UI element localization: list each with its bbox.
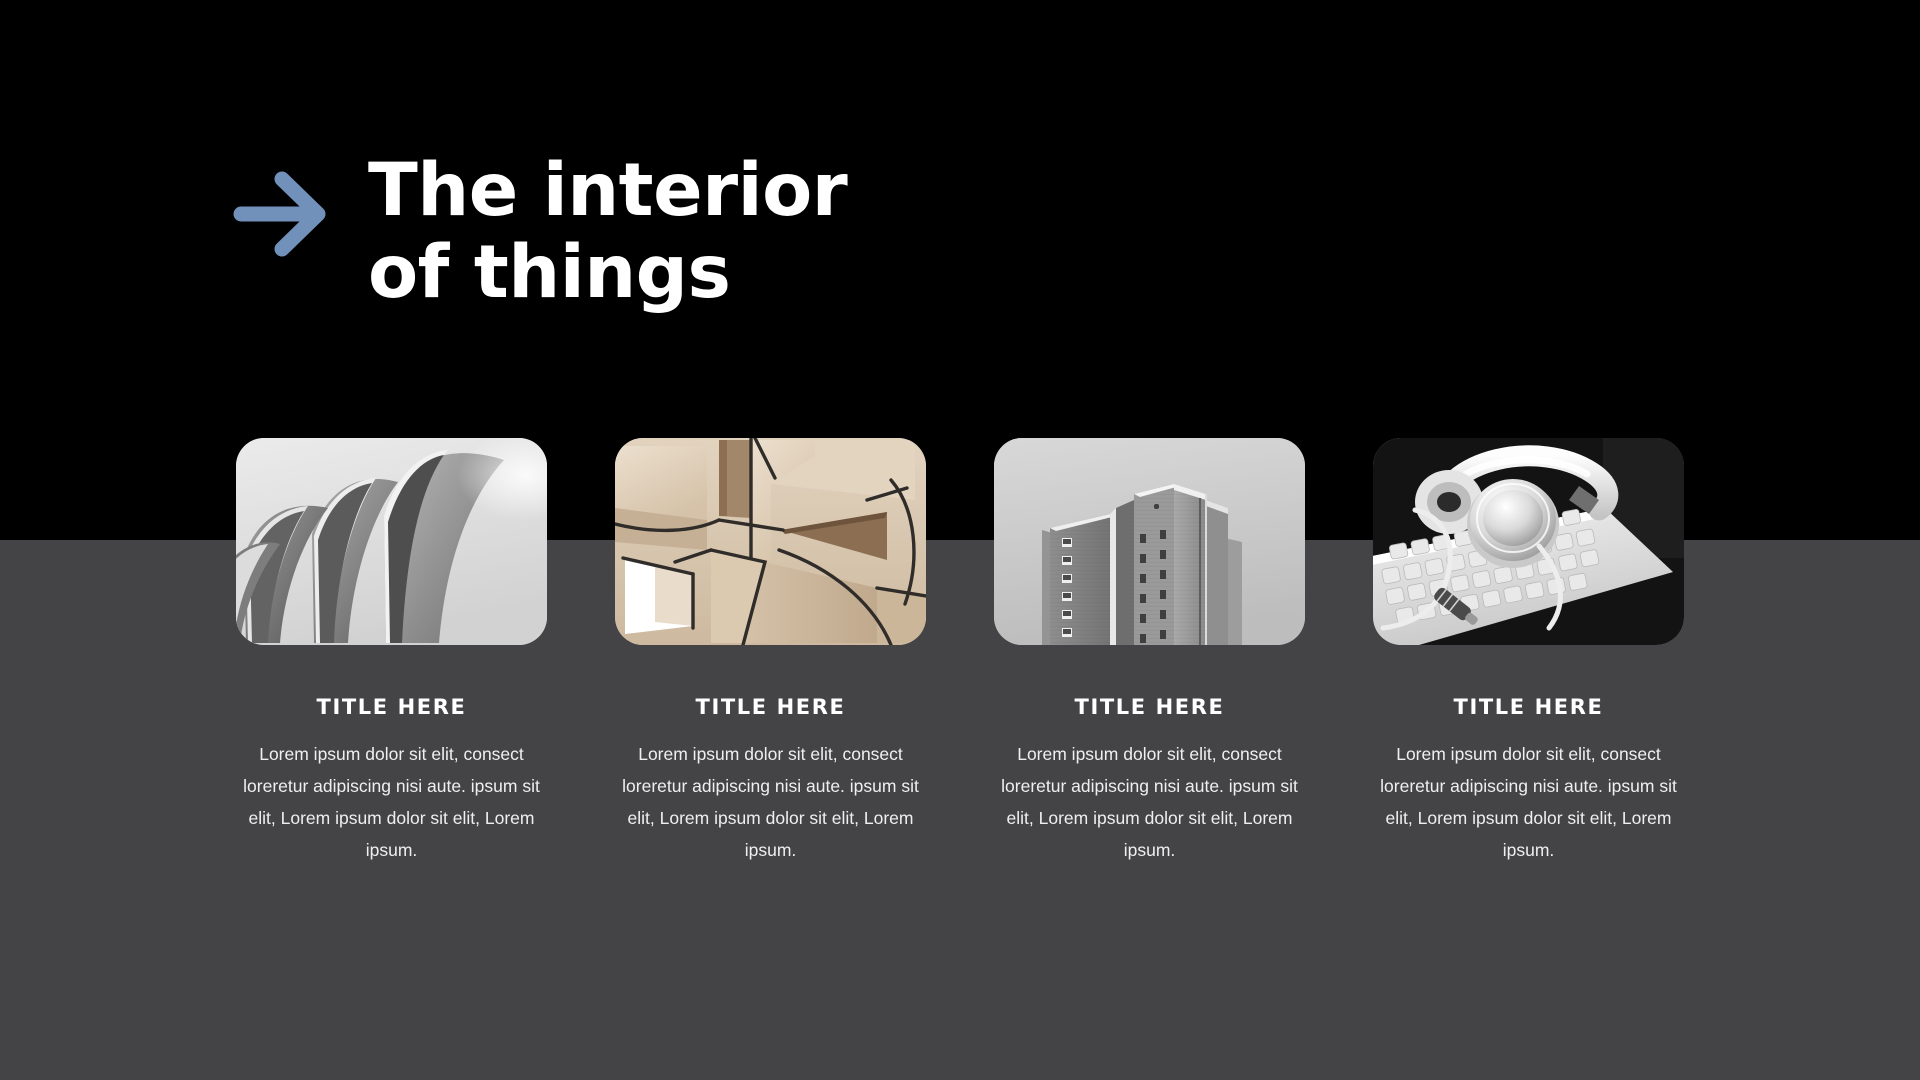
apartment-tower-photo[interactable]: [994, 438, 1305, 645]
card-row: TITLE HERE Lorem ipsum dolor sit elit, c…: [236, 438, 1686, 866]
wooden-shelving-photo[interactable]: [615, 438, 926, 645]
card-title: TITLE HERE: [236, 695, 547, 719]
card-item[interactable]: TITLE HERE Lorem ipsum dolor sit elit, c…: [1373, 438, 1684, 866]
card-item[interactable]: TITLE HERE Lorem ipsum dolor sit elit, c…: [236, 438, 547, 866]
opera-house-photo[interactable]: [236, 438, 547, 645]
card-item[interactable]: TITLE HERE Lorem ipsum dolor sit elit, c…: [615, 438, 926, 866]
card-body-text: Lorem ipsum dolor sit elit, consect lore…: [615, 738, 926, 866]
card-title: TITLE HERE: [1373, 695, 1684, 719]
card-title: TITLE HERE: [994, 695, 1305, 719]
card-body-text: Lorem ipsum dolor sit elit, consect lore…: [1373, 738, 1684, 866]
page-title: The interior of things: [368, 150, 847, 314]
arrow-right-icon: [232, 164, 330, 264]
card-body-text: Lorem ipsum dolor sit elit, consect lore…: [994, 738, 1305, 866]
card-body-text: Lorem ipsum dolor sit elit, consect lore…: [236, 738, 547, 866]
card-item[interactable]: TITLE HERE Lorem ipsum dolor sit elit, c…: [994, 438, 1305, 866]
heading-block: The interior of things: [232, 150, 847, 314]
card-title: TITLE HERE: [615, 695, 926, 719]
slide-canvas: The interior of things: [0, 0, 1920, 1080]
headphones-keyboard-photo[interactable]: [1373, 438, 1684, 645]
